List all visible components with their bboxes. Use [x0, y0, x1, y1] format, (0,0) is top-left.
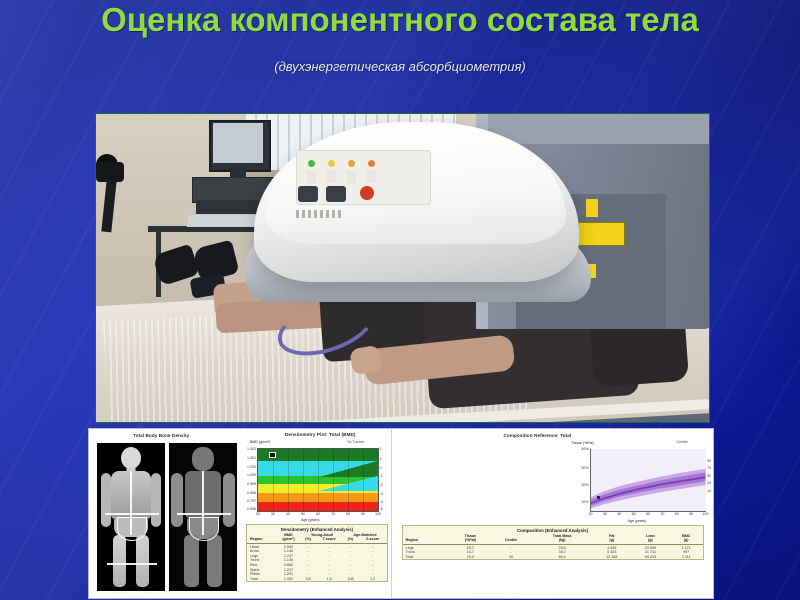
- emergency-stop-button[interactable]: [360, 186, 374, 200]
- monitor-screen: [213, 123, 263, 163]
- xtick: 90: [689, 512, 693, 516]
- band-slope-lower: [320, 476, 378, 492]
- dexa-scanner-photo: [95, 113, 710, 423]
- centile-tick: 10: [707, 489, 711, 493]
- centile-tick: 75: [707, 466, 711, 470]
- centile-tick: 25: [707, 481, 711, 485]
- patient-marker: [597, 496, 600, 499]
- ytick: 0.696: [247, 507, 256, 511]
- xtick: 100: [375, 512, 381, 516]
- scanner-button-right[interactable]: [326, 186, 346, 202]
- composition-plot-title: Composition Reference: Total: [504, 433, 572, 438]
- title-block: Оценка компонентного состава тела: [0, 2, 800, 38]
- page-title: Оценка компонентного состава тела: [0, 2, 800, 38]
- scan-leg-left: [184, 535, 199, 587]
- xtick: 30: [603, 512, 607, 516]
- scanner-button-left[interactable]: [298, 186, 318, 202]
- roi-line-trunk: [105, 513, 159, 515]
- scan-leg-right: [207, 535, 222, 587]
- roi-spine: [202, 471, 204, 535]
- scan-head: [121, 447, 141, 469]
- densitometry-ylabel: BMD (g/cm²): [250, 440, 270, 444]
- ttick: -3: [380, 492, 383, 496]
- cell-value: 108: [343, 576, 358, 581]
- laser-warning-label-icon: [578, 222, 625, 246]
- cell-region: Total: [403, 554, 451, 559]
- scanner-gantry-top: [481, 114, 710, 144]
- cell-value: 1,5: [315, 576, 342, 581]
- cell-value: 1.352: [276, 576, 301, 581]
- dexa-report-panel: Total Body Bone Density: [88, 428, 714, 599]
- xtick: 80: [346, 512, 350, 516]
- xtick: 20: [589, 512, 593, 516]
- ytick: 1.301: [247, 456, 256, 460]
- densitometry-table-grid: BMD Young-Adult Age-Matched Region (g/cm…: [247, 533, 387, 582]
- densitometry-rows: Head2.083----Arms1.146----Legs1.247----T…: [247, 544, 387, 581]
- scan-head: [192, 447, 214, 471]
- scan-leg-right: [136, 535, 149, 587]
- xtick: 20: [256, 512, 260, 516]
- scan-caption: Total Body Bone Density: [133, 433, 189, 438]
- led-bar: [347, 170, 356, 183]
- composition-reference-plot: 40% 30% 20% 10% 90 75 50 25 10 20 30 40 …: [590, 449, 706, 512]
- xtick: 100: [703, 512, 709, 516]
- xtick: 70: [660, 512, 664, 516]
- band-slope-upper: [320, 461, 378, 477]
- led-bar: [367, 170, 376, 183]
- densitometry-xlabel: Age (years): [301, 518, 320, 522]
- ytick: 40%: [581, 447, 588, 451]
- centile-tick: 50: [707, 474, 711, 478]
- soft-tissue-scan-image: [169, 443, 237, 591]
- scan-leg-left: [113, 535, 126, 587]
- ytick: 1.099: [247, 473, 256, 477]
- monitor-stand: [230, 166, 246, 178]
- scan-arm-left: [101, 473, 111, 527]
- scan-arm-right: [151, 473, 161, 527]
- status-led-green-icon: [308, 160, 315, 167]
- ytick: 30%: [581, 466, 588, 470]
- report-left-panel: Total Body Bone Density: [89, 429, 392, 598]
- roi-pelvis: [189, 517, 219, 541]
- led-bar: [327, 170, 336, 183]
- ytick: 1.402: [247, 447, 256, 451]
- composition-table: Composition (Enhanced Analysis) Tissue T…: [402, 525, 704, 560]
- cell-value: 12 268: [592, 554, 631, 559]
- table-row: Total1.3521101,51081,2: [247, 576, 387, 581]
- xtick: 40: [617, 512, 621, 516]
- status-led-yellow-icon: [328, 160, 335, 167]
- xtick: 30: [271, 512, 275, 516]
- xtick: 50: [301, 512, 305, 516]
- composition-rows: Legs15,7-25,64 49523 5591 171Trunk14,7-3…: [403, 545, 703, 559]
- cell-value: 69 413: [631, 554, 670, 559]
- cell-value: 85,0: [532, 554, 593, 559]
- roi-spine: [130, 471, 132, 535]
- xtick: 90: [361, 512, 365, 516]
- ttick: 0: [380, 466, 382, 470]
- xtick: 50: [632, 512, 636, 516]
- cell-value: 15,0: [451, 554, 491, 559]
- densitometry-table: Densitometry (Enhanced Analysis) BMD You…: [246, 524, 388, 582]
- cell-value: 110: [301, 576, 315, 581]
- ttick: 1: [380, 457, 382, 461]
- composition-table-title: Composition (Enhanced Analysis): [403, 526, 703, 534]
- ytick: 10%: [581, 500, 588, 504]
- ttick: -2: [380, 483, 383, 487]
- ytick: 1.200: [247, 465, 256, 469]
- ytick: 0.898: [247, 491, 256, 495]
- body-scan-images: [97, 443, 237, 591]
- ttick: -4: [380, 500, 383, 504]
- xtick: 60: [316, 512, 320, 516]
- densitometry-table-title: Densitometry (Enhanced Analysis): [247, 525, 387, 533]
- xtick: 80: [675, 512, 679, 516]
- composition-ylabel: Tissue (%Fat): [572, 441, 594, 445]
- scanner-brand-logo: [296, 210, 344, 218]
- roi-line-trunk: [177, 513, 231, 515]
- status-led-orange-icon: [368, 160, 375, 167]
- ttick: -1: [380, 474, 383, 478]
- led-bar: [307, 170, 316, 183]
- densitometry-tscore-label: YA T-score: [347, 440, 364, 444]
- xtick: 60: [646, 512, 650, 516]
- report-right-panel: Composition Reference: Total Tissue (%Fa…: [392, 429, 713, 598]
- scan-arm-left: [171, 473, 183, 527]
- cell-value: 1,2: [358, 576, 387, 581]
- ttick: 2: [380, 447, 382, 451]
- page-subtitle: (двухэнергетическая абсорбциометрия): [0, 59, 800, 74]
- scan-arm-right: [223, 473, 235, 527]
- roi-line-legs: [107, 563, 157, 565]
- bone-density-scan-image: [97, 443, 165, 591]
- presentation-slide: Оценка компонентного состава тела (двухэ…: [0, 0, 800, 600]
- xtick: 70: [331, 512, 335, 516]
- centile-tick: 90: [707, 459, 711, 463]
- densitometry-plot-title: Densitometry Plot: Total (BMD): [285, 432, 356, 437]
- densitometry-plot: 1.402 1.301 1.200 1.099 0.999 0.898 0.79…: [257, 448, 379, 512]
- status-led-amber-icon: [348, 160, 355, 167]
- xtick: 40: [286, 512, 290, 516]
- ttick: -5: [380, 507, 383, 511]
- warning-sticker-icon: [586, 199, 598, 217]
- composition-centile-label: Centile: [677, 440, 688, 444]
- cell-value: 40: [490, 554, 532, 559]
- ytick: 0.797: [247, 499, 256, 503]
- ytick: 0.999: [247, 482, 256, 486]
- roi-pelvis: [117, 517, 147, 541]
- table-row: Total15,04085,012 26869 4133 311: [403, 554, 703, 559]
- cell-region: Total: [247, 576, 276, 581]
- composition-xlabel: Age (years): [628, 519, 647, 523]
- cell-value: 3 311: [670, 554, 703, 559]
- composition-table-grid: Tissue Total Mass Fat Lean BMC Region (%…: [403, 534, 703, 560]
- ytick: 20%: [581, 483, 588, 487]
